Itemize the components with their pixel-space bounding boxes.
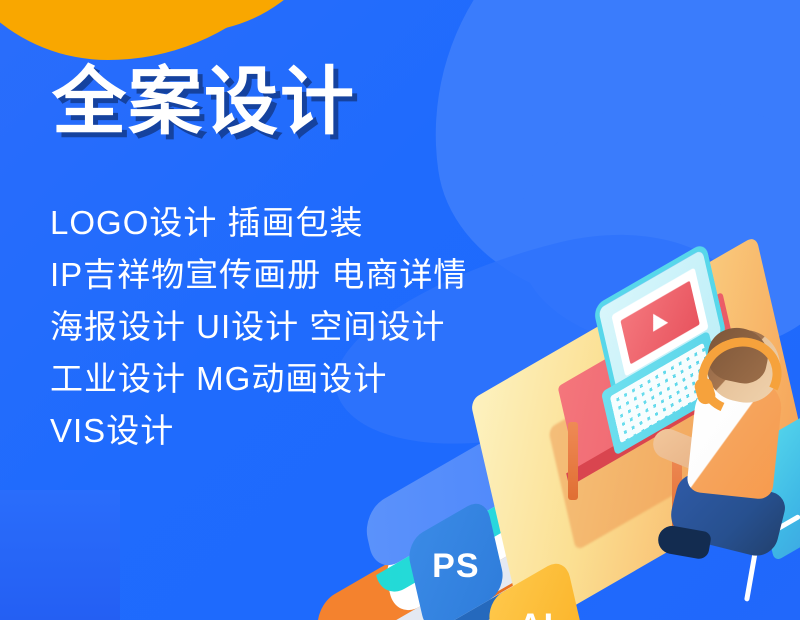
desk-leg-left <box>568 422 578 500</box>
play-icon <box>653 314 668 332</box>
promo-poster: 全案设计 LOGO设计 插画包装 IP吉祥物宣传画册 电商详情 海报设计 UI设… <box>0 0 800 620</box>
page-title: 全案设计 <box>52 58 356 145</box>
bottom-left-color-patch <box>0 490 120 620</box>
headline-block: 全案设计 <box>52 58 356 145</box>
app-tile-label: PS <box>432 547 479 586</box>
isometric-illustration: PS AI AE <box>300 210 800 620</box>
app-tile-label: AI <box>518 607 554 620</box>
